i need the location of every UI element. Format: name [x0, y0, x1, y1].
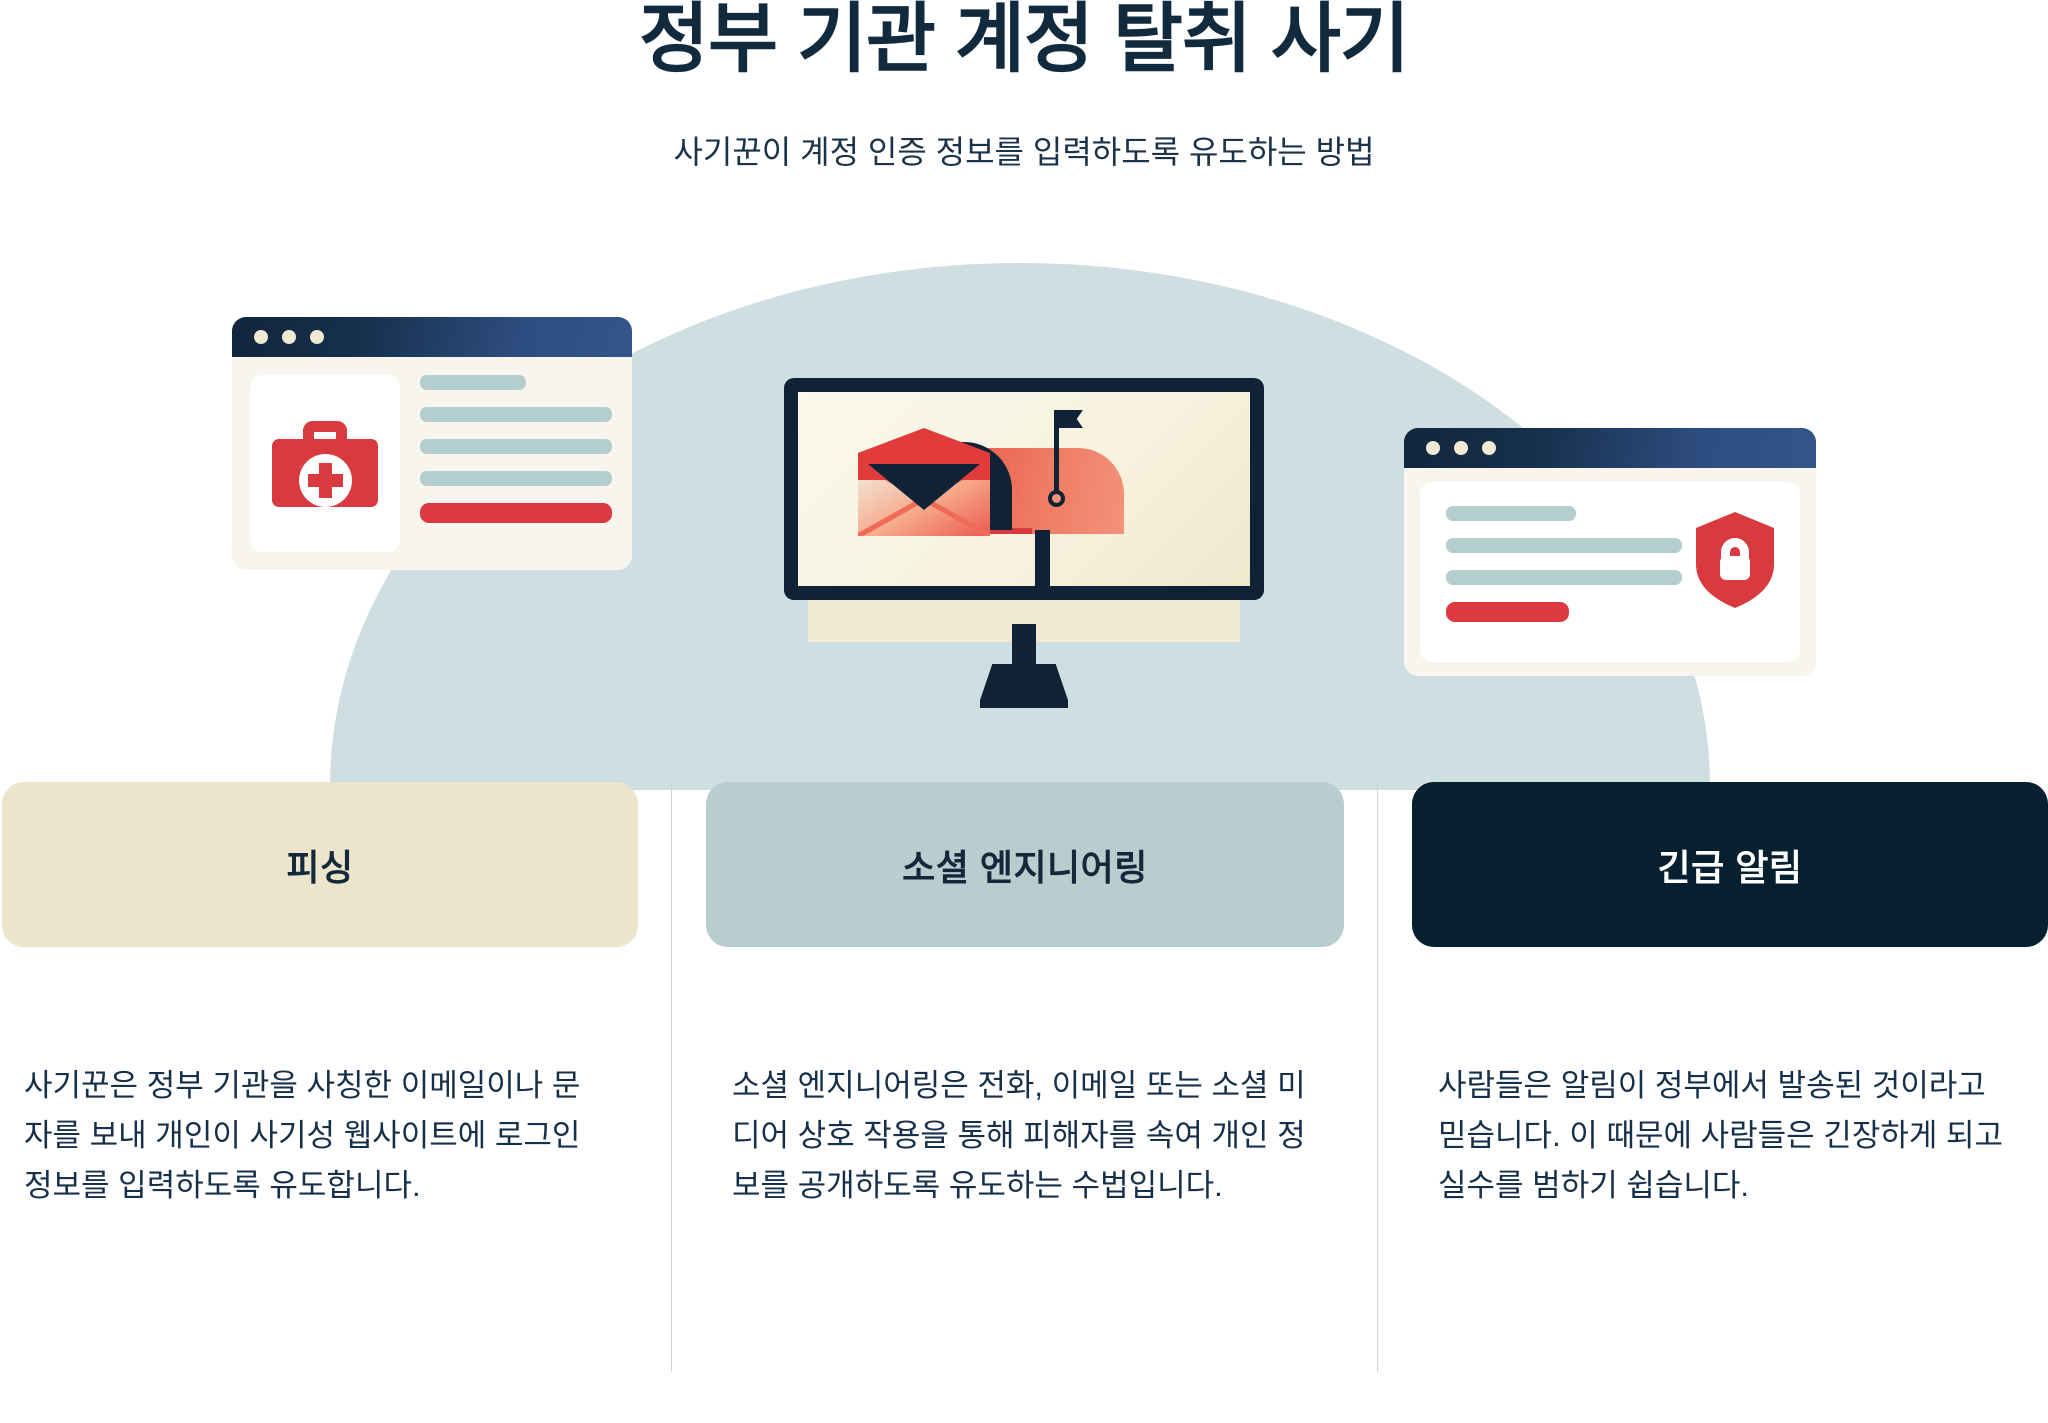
placeholder-bar	[1446, 506, 1576, 521]
paragraph-phishing: 사기꾼은 정부 기관을 사칭한 이메일이나 문자를 보내 개인이 사기성 웹사이…	[24, 1061, 604, 1212]
browser-body	[232, 357, 632, 570]
monitor-screen	[798, 392, 1250, 586]
window-dot-icon	[254, 330, 268, 344]
placeholder-submit-button	[420, 503, 612, 523]
illustration-phishing-browser-window	[232, 317, 632, 570]
browser-titlebar	[232, 317, 632, 357]
kit-cross-horizontal	[308, 474, 343, 487]
shield-shape	[1696, 512, 1774, 608]
illustration-alert-browser-window	[1404, 428, 1816, 676]
window-dot-icon	[1482, 441, 1496, 455]
mailbox-flag-knob	[1048, 490, 1065, 507]
browser-body	[1404, 468, 1816, 676]
mailbox-flag-banner	[1057, 410, 1083, 428]
monitor-stand	[980, 664, 1068, 708]
placeholder-text-lines	[400, 375, 612, 552]
placeholder-bar	[420, 471, 612, 486]
placeholder-bar	[420, 407, 612, 422]
window-dot-icon	[310, 330, 324, 344]
label-card-urgent-alert-text: 긴급 알림	[1658, 839, 1803, 891]
window-dot-icon	[1426, 441, 1440, 455]
placeholder-bar	[420, 375, 526, 390]
alert-card	[1420, 482, 1800, 662]
illustration-social-engineering-monitor	[784, 378, 1264, 620]
paragraph-social-engineering: 소셜 엔지니어링은 전화, 이메일 또는 소셜 미디어 상호 작용을 통해 피해…	[732, 1061, 1314, 1212]
label-card-phishing[interactable]: 피싱	[2, 782, 638, 947]
infographic-root: 정부 기관 계정 탈취 사기 사기꾼이 계정 인증 정보를 입력하도록 유도하는…	[0, 0, 2048, 1423]
monitor-frame	[784, 378, 1264, 600]
medical-kit-icon	[272, 421, 378, 507]
label-card-phishing-text: 피싱	[286, 839, 353, 891]
placeholder-bar	[420, 439, 612, 454]
envelope-icon	[858, 430, 990, 536]
window-dot-icon	[282, 330, 296, 344]
window-dot-icon	[1454, 441, 1468, 455]
column-divider	[1377, 782, 1378, 1372]
mailbox-icon	[798, 392, 1250, 586]
paragraph-urgent-alert: 사람들은 알림이 정부에서 발송된 것이라고 믿습니다. 이 때문에 사람들은 …	[1438, 1061, 2020, 1212]
shield-lock-icon	[1696, 506, 1774, 638]
label-card-social-engineering-text: 소셜 엔지니어링	[902, 839, 1148, 891]
placeholder-bar	[1446, 538, 1682, 553]
placeholder-submit-button	[1446, 602, 1569, 622]
mailbox-post-shape	[1035, 530, 1050, 586]
medical-card	[250, 375, 400, 552]
monitor-neck	[1012, 624, 1036, 670]
column-divider	[671, 782, 672, 1372]
label-card-urgent-alert[interactable]: 긴급 알림	[1412, 782, 2048, 947]
browser-titlebar	[1404, 428, 1816, 468]
placeholder-bar	[1446, 570, 1682, 585]
label-card-social-engineering[interactable]: 소셜 엔지니어링	[706, 782, 1344, 947]
placeholder-text-lines	[1446, 506, 1696, 638]
